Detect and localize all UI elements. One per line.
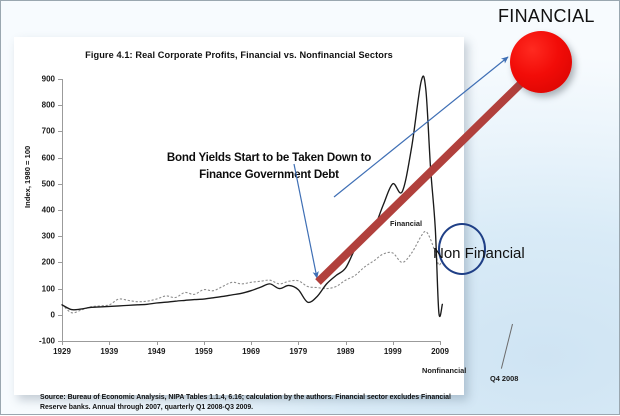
- nonfinancial-callout-text: Non Financial: [433, 245, 525, 262]
- red-circle-marker: [510, 31, 572, 93]
- financial-callout-text: FINANCIAL: [498, 6, 595, 27]
- blue-arrow-to-1980s-trough: [294, 164, 317, 278]
- screenshot-root: Figure 4.1: Real Corporate Profits, Fina…: [0, 0, 620, 415]
